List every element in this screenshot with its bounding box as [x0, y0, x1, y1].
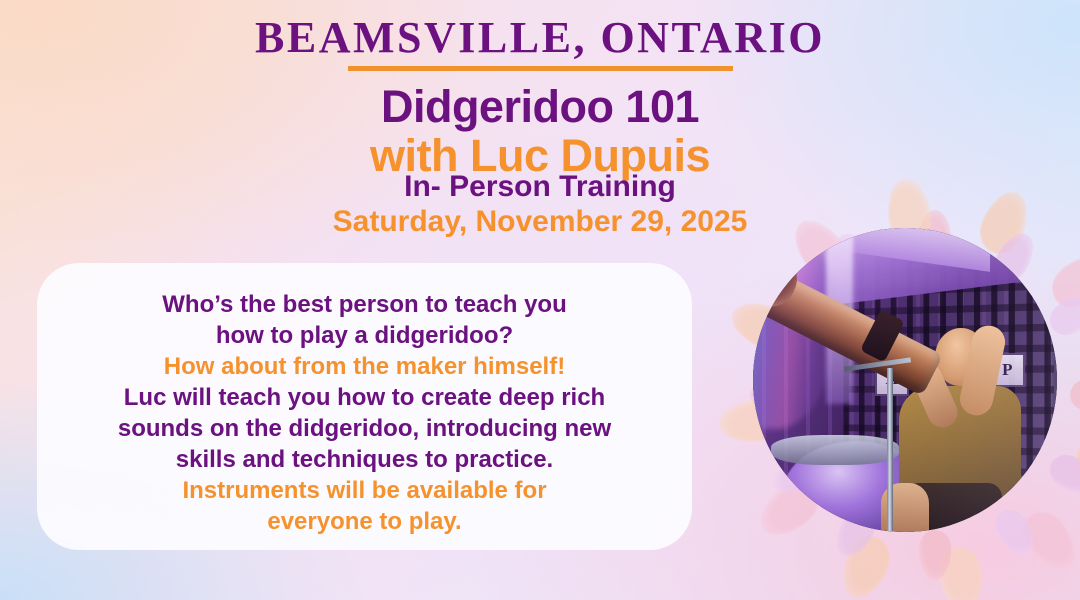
course-title: Didgeridoo 101 [0, 82, 1080, 132]
stage-light-wash [753, 228, 1057, 532]
title-divider [348, 66, 733, 71]
event-date: Saturday, November 29, 2025 [0, 205, 1080, 239]
description-line-2: how to play a didgeridoo? [37, 320, 692, 351]
event-poster: A P BEAMSVILLE, ONTARIO Didgeridoo 101 w… [0, 0, 1080, 600]
petal-shape [1070, 379, 1080, 412]
description-card: Who’s the best person to teach you how t… [37, 263, 692, 550]
description-text: Who’s the best person to teach you how t… [37, 289, 692, 537]
petal-shape [936, 545, 986, 600]
performer-photo: A P [753, 228, 1057, 532]
page-title: BEAMSVILLE, ONTARIO [0, 12, 1080, 63]
petal-shape [1070, 433, 1080, 496]
description-line-6: skills and techniques to practice. [37, 444, 692, 475]
photo-scene: A P [753, 228, 1057, 532]
petal-shape [834, 530, 897, 600]
description-line-8: everyone to play. [37, 506, 692, 537]
description-line-1: Who’s the best person to teach you [37, 289, 692, 320]
description-line-3: How about from the maker himself! [37, 351, 692, 382]
description-line-4: Luc will teach you how to create deep ri… [37, 382, 692, 413]
description-line-7: Instruments will be available for [37, 475, 692, 506]
description-line-5: sounds on the didgeridoo, introducing ne… [37, 413, 692, 444]
petal-shape [919, 530, 952, 580]
delivery-mode: In- Person Training [0, 170, 1080, 204]
